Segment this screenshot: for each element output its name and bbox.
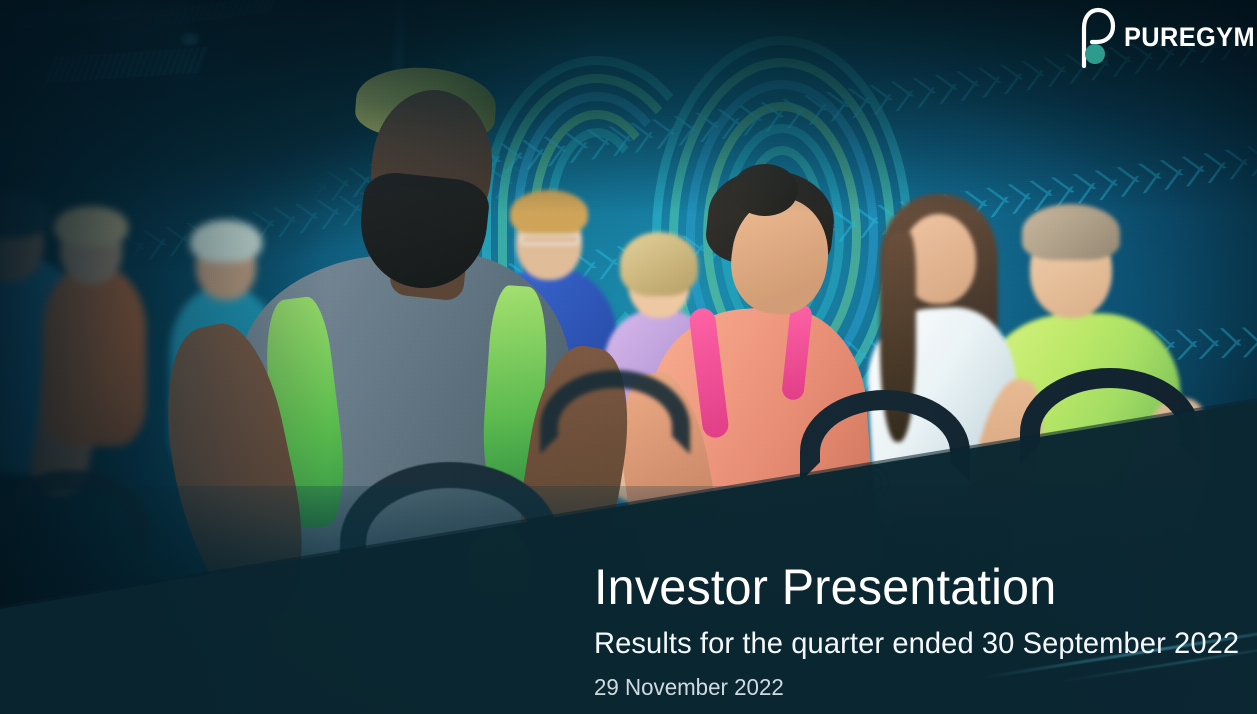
slide-subtitle: Results for the quarter ended 30 Septemb… (594, 627, 1215, 661)
puregym-p-mark-icon (1064, 6, 1120, 68)
puregym-dot-icon (1085, 44, 1105, 64)
slide-date: 29 November 2022 (594, 675, 1215, 700)
slide-title: Investor Presentation (594, 562, 1215, 613)
title-block: Investor Presentation Results for the qu… (594, 562, 1234, 700)
puregym-logo[interactable]: PUREGYM (1064, 6, 1257, 68)
puregym-wordmark: PUREGYM (1124, 22, 1255, 53)
title-slide: PUREGYM Investor Presentation Results fo… (0, 0, 1257, 714)
